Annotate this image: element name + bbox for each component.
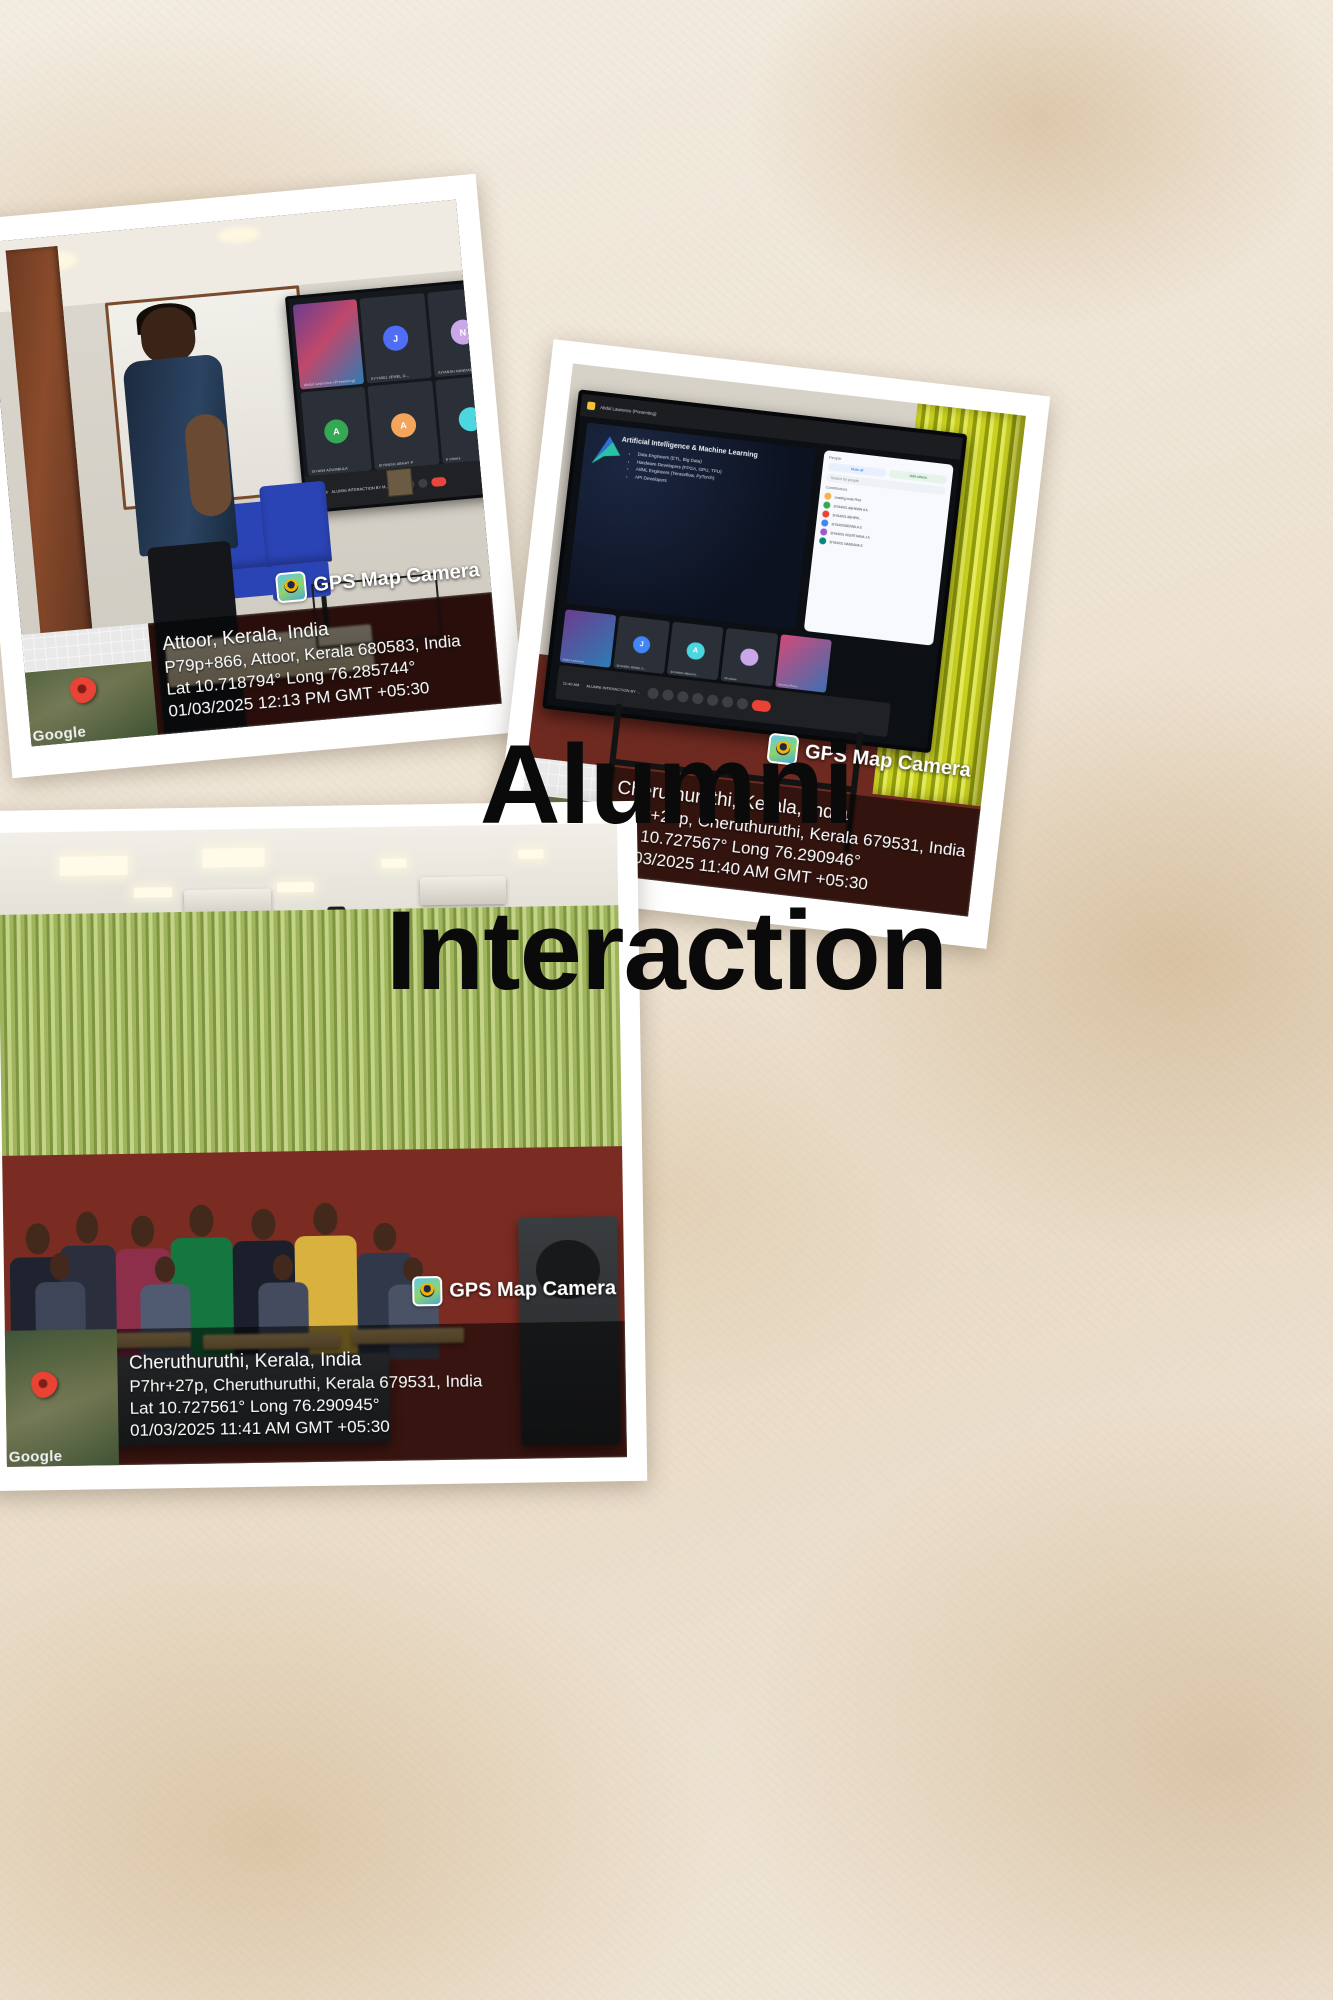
- head: [26, 1223, 50, 1255]
- ceiling-light-icon: [134, 887, 171, 898]
- ceiling-light-icon: [382, 858, 407, 867]
- avatar: [824, 493, 832, 501]
- google-watermark: Google: [9, 1448, 63, 1466]
- participant-name: Abdul Lawrence (Presenting): [304, 378, 356, 387]
- people-list: Leading mute Phot SIYA4001 ABHINAN A A S…: [819, 493, 944, 558]
- participant-name: Abdul Lawrence: [562, 657, 584, 663]
- gps-map-camera-badge: GPS Map Camera: [408, 1271, 620, 1308]
- present-icon: [706, 694, 718, 706]
- person-name: Leading mute Phot: [834, 495, 861, 502]
- microphone-icon: [647, 687, 659, 699]
- avatar: [457, 406, 484, 433]
- head: [373, 1222, 396, 1251]
- avatar: [819, 537, 827, 545]
- participant-name: SIYANSH NANDANA S: [438, 367, 479, 375]
- participant-name: SIYA4001 JEWEL G...: [616, 663, 646, 670]
- window-title: Abdul Lawrence (Presenting): [600, 405, 657, 416]
- head: [190, 1205, 214, 1237]
- head: [50, 1253, 70, 1280]
- emoji-icon: [691, 692, 703, 704]
- participant-tile: Abdul Lawrence (Presenting): [292, 299, 364, 389]
- person-name: SIYA4001 ABHIRA...: [832, 513, 862, 520]
- head: [155, 1256, 175, 1282]
- map-grid: [523, 757, 608, 803]
- participant-tile: J SYY4001 JEWEL G...: [360, 293, 432, 383]
- participant-tile: A SIYANSH ABHAY P: [368, 380, 440, 470]
- avatar: J: [632, 635, 651, 654]
- google-watermark: Google: [32, 723, 87, 745]
- participant-tile: A SIYAN4 ADUMBULA: [300, 387, 372, 477]
- gps-minimap: Google: [5, 1329, 119, 1467]
- gps-minimap: Google: [21, 623, 158, 746]
- photo-1-image: Abdul Lawrence (Presenting) J SYY4001 JE…: [0, 200, 502, 747]
- ceiling-light-icon: [518, 850, 543, 859]
- participant-tile: J SIYA4001 JEWEL G...: [613, 615, 670, 674]
- avatar: [820, 528, 828, 536]
- avatar: [821, 519, 829, 527]
- wall-socket: [386, 468, 414, 498]
- person-name: SIYA4001 NANDANA S: [829, 540, 863, 548]
- participant-name: SIYA4001 ABHAYA...: [670, 670, 698, 677]
- avatar: J: [382, 325, 409, 352]
- people-panel: People Mute all Add others Search for pe…: [804, 450, 954, 645]
- gps-text-block: Cheruthuruthi, Kerala, India P7hr+27p, C…: [116, 1321, 626, 1465]
- app-icon: [587, 402, 596, 411]
- avatar: [822, 510, 830, 518]
- avatar: A: [390, 412, 417, 439]
- head: [131, 1216, 154, 1247]
- avatar: A: [323, 418, 350, 445]
- meeting-title: ALUMNI INTERACTION BY ...: [586, 683, 640, 694]
- chair: [259, 481, 332, 568]
- participant-tile: Abdul Lawrence: [559, 609, 616, 668]
- participant-tile: N SIYANSH NANDANA S: [427, 287, 499, 377]
- hand-raise-icon: [721, 696, 733, 708]
- head: [76, 1212, 99, 1244]
- participant-name: Meeting Photo: [778, 682, 798, 688]
- ceiling-light-icon: [202, 848, 264, 868]
- photo-card-1[interactable]: Abdul Lawrence (Presenting) J SYY4001 JE…: [0, 174, 526, 778]
- map-pin-icon: [65, 671, 102, 708]
- participant-tile: 18 others: [721, 628, 778, 687]
- photo-card-3[interactable]: GPS Map Camera Google Cheruthuruthi, Ker…: [0, 801, 647, 1491]
- participant-overflow-label: 18 others: [724, 676, 737, 681]
- photo-3-image: GPS Map Camera Google Cheruthuruthi, Ker…: [0, 823, 627, 1467]
- presentation-slide: Artificial Intelligence & Machine Learni…: [566, 423, 815, 629]
- gps-map-camera-icon: [275, 571, 308, 604]
- person-name: SIYA4001 ABHINAN A A: [833, 504, 868, 512]
- more-options-icon: [736, 697, 748, 709]
- meet-participant-grid: Abdul Lawrence (Presenting) J SYY4001 JE…: [292, 287, 501, 477]
- avatar: A: [686, 641, 705, 660]
- ceiling-light-icon: [277, 882, 314, 893]
- participant-tile: A SIYA4001 ABHAYA...: [667, 622, 724, 681]
- gps-map-camera-icon: [767, 733, 800, 766]
- avatar: N: [449, 319, 476, 346]
- tv-display: Abdul Lawrence (Presenting) Artificial I…: [542, 390, 967, 753]
- head: [273, 1254, 293, 1280]
- participant-tile: Meeting Photo: [775, 634, 832, 693]
- air-conditioner: [419, 876, 506, 906]
- gps-overlay-3: Google Cheruthuruthi, Kerala, India P7hr…: [5, 1321, 627, 1467]
- poster-canvas: Abdul Lawrence (Presenting) J SYY4001 JE…: [0, 0, 1333, 2000]
- person-name: SIYA4001BENNILA S: [831, 522, 862, 529]
- captions-icon: [676, 690, 688, 702]
- head: [314, 1203, 338, 1235]
- avatar: [740, 647, 759, 666]
- participant-name: SYY4001 JEWEL G...: [371, 374, 410, 381]
- avatar: [823, 502, 831, 510]
- end-call-icon: [751, 699, 771, 712]
- head: [252, 1209, 276, 1240]
- gps-map-camera-icon: [412, 1276, 442, 1306]
- map-pin-icon: [25, 1366, 62, 1403]
- gps-badge-label: GPS Map Camera: [449, 1277, 616, 1303]
- participant-overflow-label: 6 others: [446, 457, 461, 462]
- meeting-time: 11:40 AM: [563, 680, 580, 687]
- camera-icon: [661, 689, 673, 701]
- participant-tile: 6 others: [435, 374, 502, 464]
- ceiling-light-icon: [59, 856, 127, 876]
